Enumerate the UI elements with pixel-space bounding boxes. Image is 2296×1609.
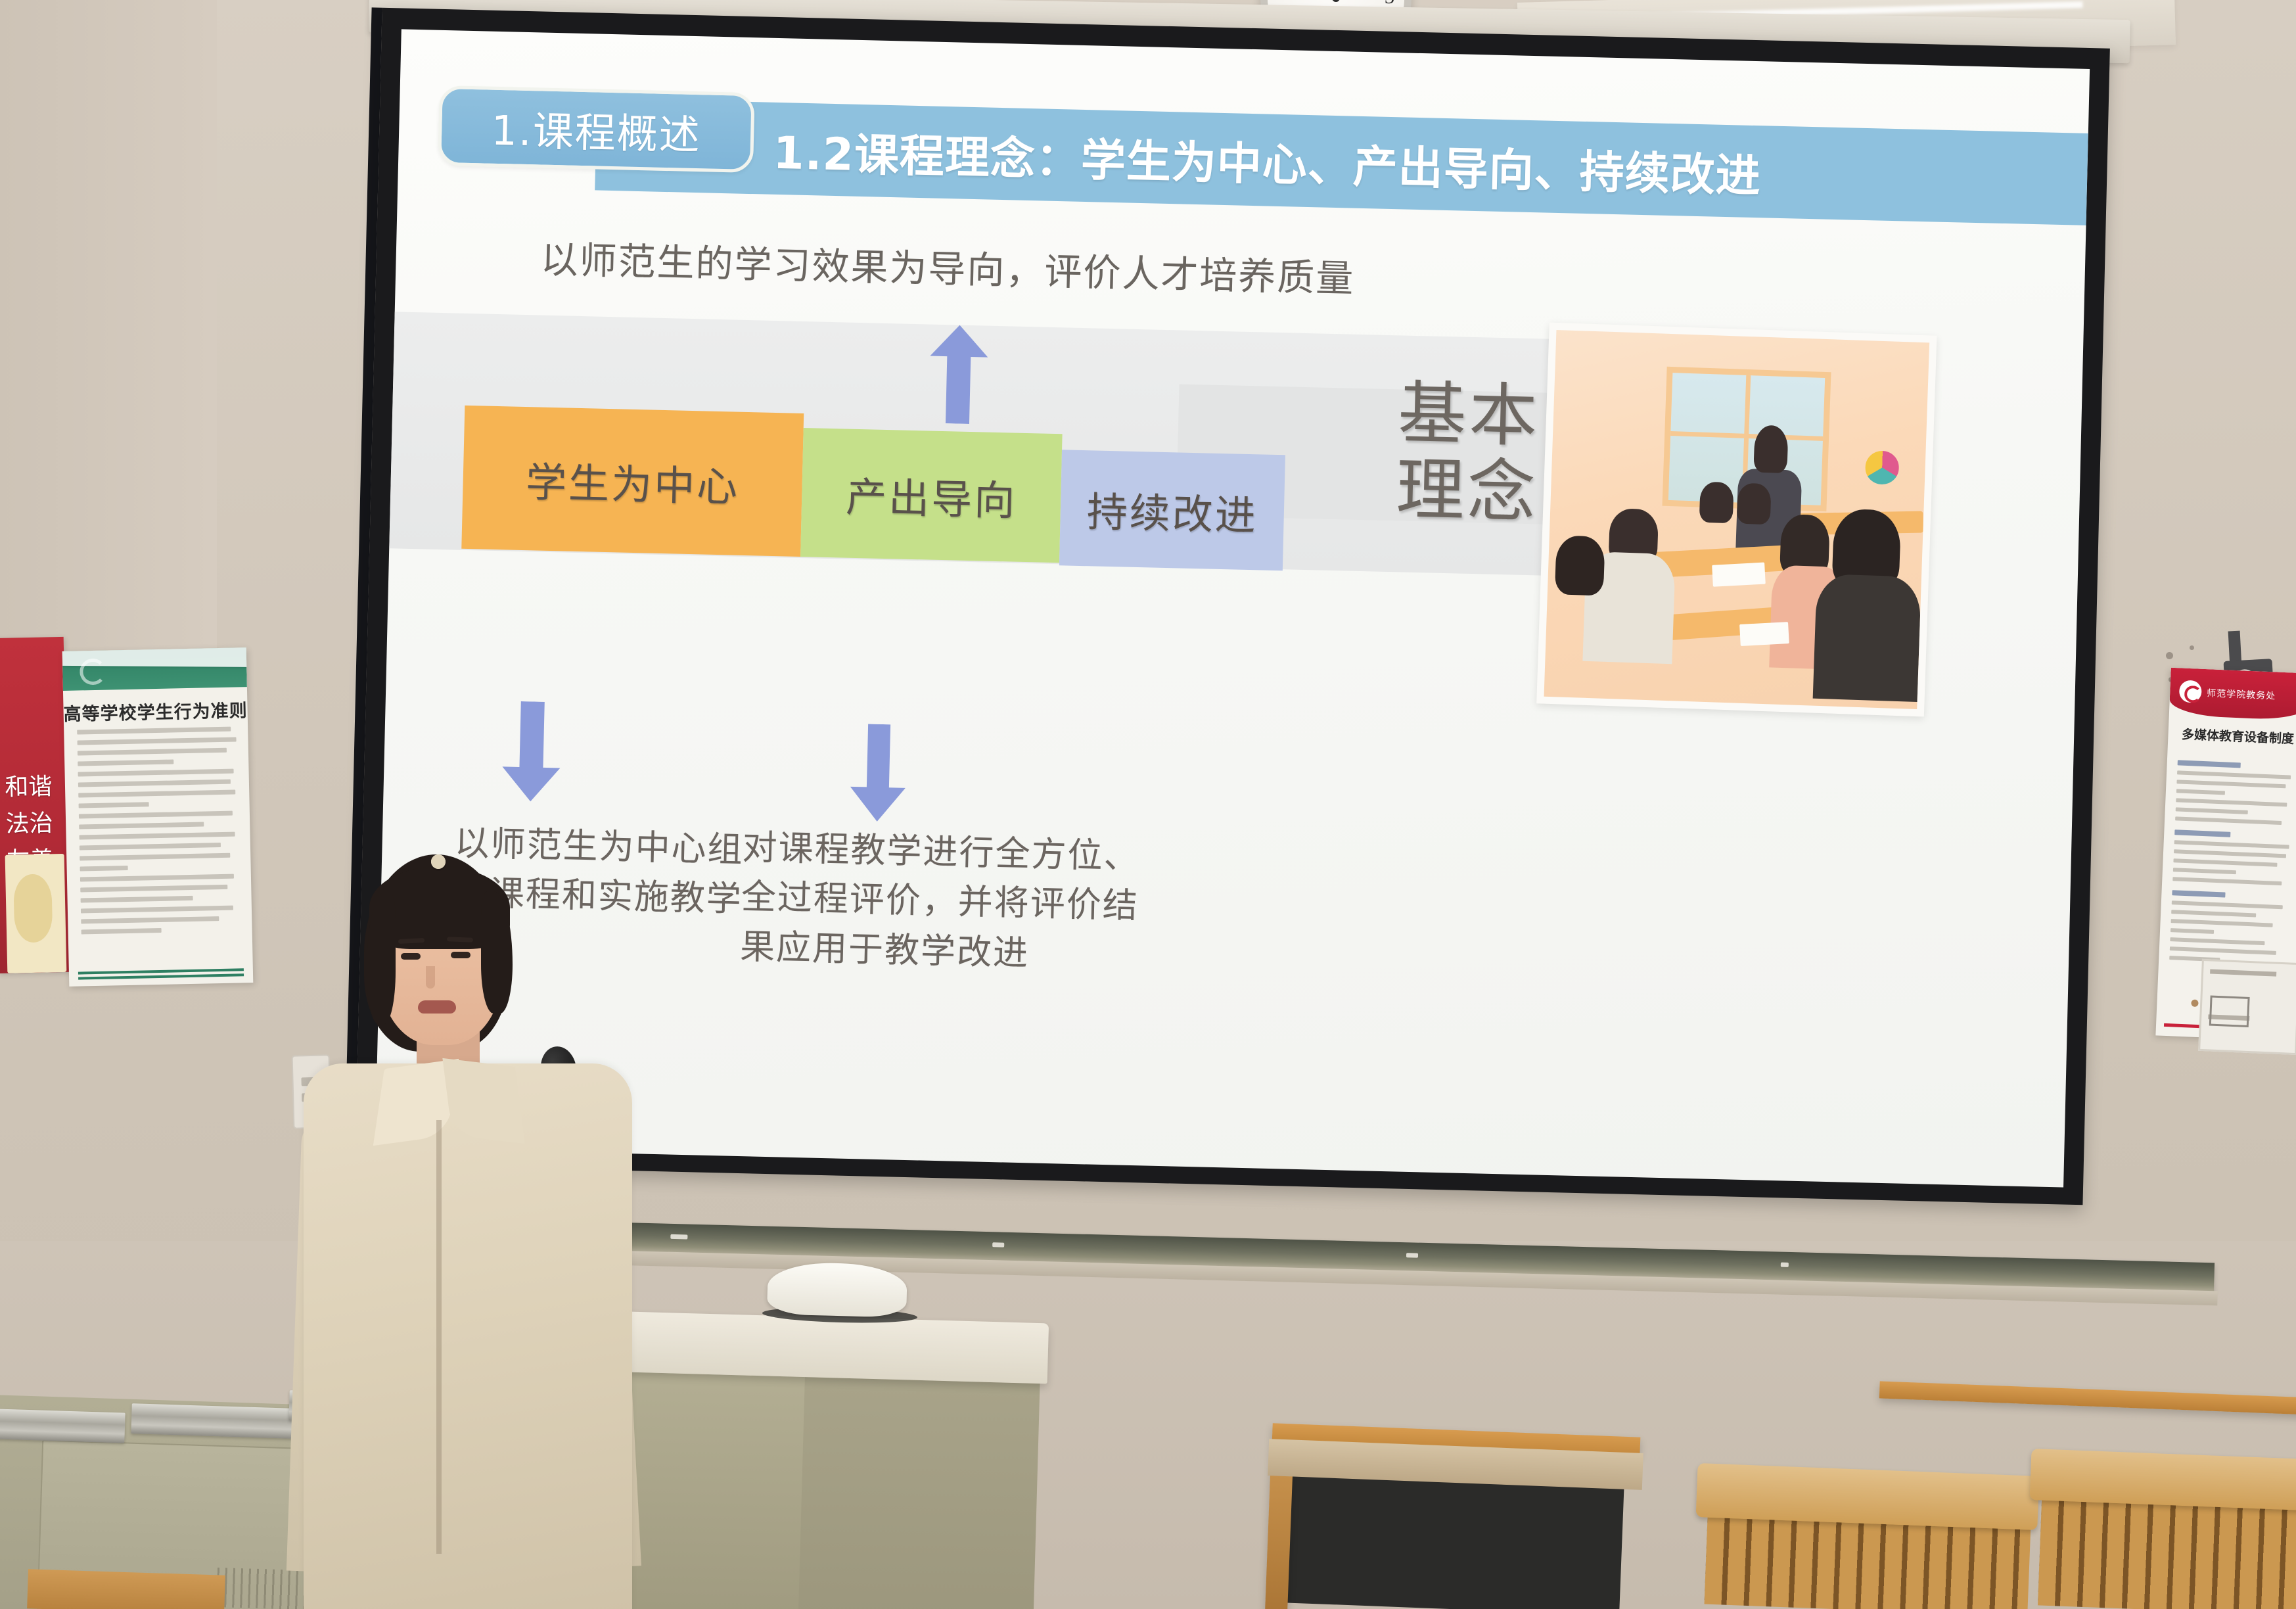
projection-screen: 1.2课程理念：学生为中心、产出导向、持续改进 1.课程概述 以师范生的学习效果… <box>354 0 2195 1257</box>
wall-left-shade <box>0 0 217 657</box>
poster-student-code: 高等学校学生行为准则 <box>62 647 254 987</box>
photo-teacher-head <box>1753 425 1789 473</box>
slide-arrow-label: 基本 理念 <box>1395 376 1540 532</box>
slide-content: 1.2课程理念：学生为中心、产出导向、持续改进 1.课程概述 以师范生的学习效果… <box>375 29 2090 1187</box>
slide-bottom-text-right: 对课程教学进行全方位、全过程评价，并将评价结果应用于教学改进 <box>739 824 1150 981</box>
drawer-slide-rail-1 <box>0 1408 126 1443</box>
poster-pin <box>2191 1000 2198 1007</box>
presenter-mouth <box>418 1000 456 1014</box>
poster-student-code-footer <box>78 968 244 979</box>
poster-logo-text: 师范学院教务处 <box>2207 686 2276 702</box>
presenter-shirt-placket <box>436 1120 442 1554</box>
poster-equipment-rules-title: 多媒体教育设备制度 <box>2168 724 2296 748</box>
chair-slats-2[interactable] <box>2038 1496 2296 1609</box>
poster-core-values-graphic <box>5 854 67 973</box>
wooden-chair-back-left <box>27 1569 225 1609</box>
photo-student-2 <box>1555 536 1605 596</box>
photo-student-3 <box>1699 482 1734 523</box>
slide-title-bar: 1.2课程理念：学生为中心、产出导向、持续改进 <box>595 98 2088 225</box>
slide-subtitle: 以师范生的学习效果为导向，评价人才培养质量 <box>540 230 1356 303</box>
classroom-scene: 3 4 5 6 7 8 和谐法治友善 高等学校学生行为准则 <box>0 0 2296 1609</box>
photo-paper-2 <box>1739 622 1789 646</box>
chip-outcome-oriented: 产出导向 <box>800 428 1063 563</box>
arrow-down-icon-left <box>501 701 562 802</box>
photo-student-4 <box>1737 483 1772 525</box>
presenter-shirt-button-3 <box>431 854 446 869</box>
poster-student-code-body <box>77 726 242 940</box>
photo-paper-1 <box>1712 563 1765 588</box>
chip-student-centered: 学生为中心 <box>461 406 804 557</box>
slide-classroom-photo-image <box>1544 330 1930 709</box>
presenter-eye-right <box>451 952 471 958</box>
presenter-eyebrow-right <box>447 937 473 942</box>
chip-outcome-oriented-label: 产出导向 <box>845 464 1017 527</box>
slide-title: 1.2课程理念：学生为中心、产出导向、持续改进 <box>595 112 1762 204</box>
slide-concept-chips: 学生为中心 产出导向 持续改进 <box>461 406 1286 571</box>
student-desk-front-panel <box>1277 1472 1624 1609</box>
chip-student-centered-label: 学生为中心 <box>525 449 740 513</box>
poster-student-code-title: 高等学校学生行为准则 <box>63 696 248 726</box>
poster-equipment-rules-header: 师范学院教务处 <box>2169 668 2296 721</box>
arrow-up-icon <box>929 325 989 425</box>
school-logo-icon <box>2179 680 2202 703</box>
slide-arrow-label-line1: 基本 <box>1397 376 1541 456</box>
photo-wall-chart-icon <box>1865 451 1900 485</box>
poster-tape <box>62 647 254 667</box>
presenter-shirt <box>304 1063 632 1609</box>
presenter-nose <box>426 966 435 989</box>
chair-back-rail-2[interactable] <box>2030 1449 2296 1510</box>
photo-student-6-body <box>1813 574 1921 702</box>
presenter <box>309 854 624 1609</box>
poster-equipment-rules-body <box>2169 751 2296 969</box>
slide-classroom-photo <box>1536 323 1937 717</box>
projected-slide: 1.2课程理念：学生为中心、产出导向、持续改进 1.课程概述 以师范生的学习效果… <box>375 29 2090 1187</box>
slide-arrow-label-line2: 理念 <box>1395 453 1539 533</box>
presenter-eye-left <box>401 953 421 960</box>
arrow-down-icon-right <box>850 724 907 822</box>
chip-continuous-improvement-label: 持续改进 <box>1086 478 1258 542</box>
slide-section-badge: 1.课程概述 <box>438 85 755 173</box>
wall-framed-notice <box>2198 959 2296 1055</box>
poster-core-values-red: 和谐法治友善 <box>0 637 70 973</box>
chip-continuous-improvement: 持续改进 <box>1059 450 1285 571</box>
slide-section-badge-label: 1.课程概述 <box>491 97 702 161</box>
